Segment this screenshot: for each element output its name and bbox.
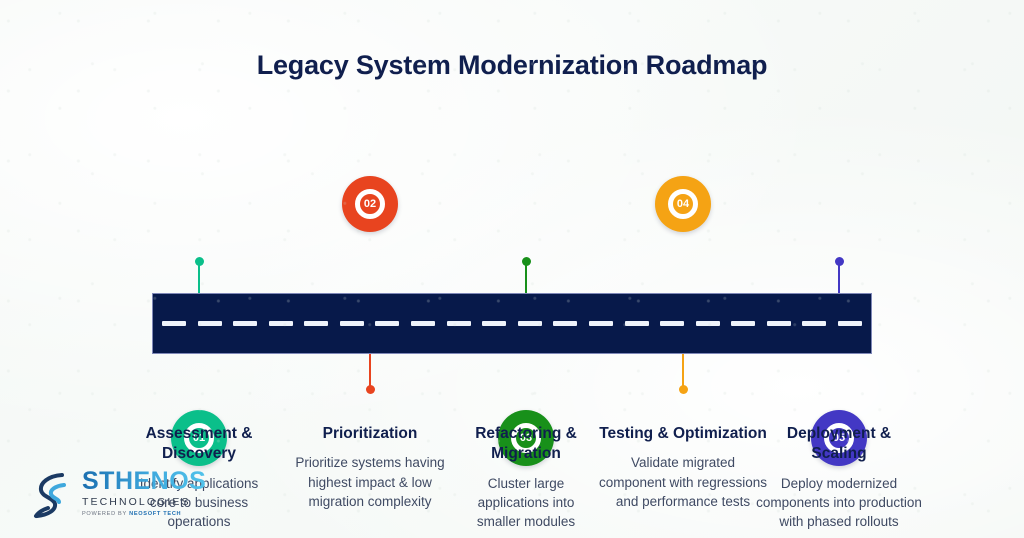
road-lane-dashes [153, 294, 871, 353]
milestone-circle-02[interactable]: 02 [342, 176, 398, 232]
road-dash [269, 321, 293, 326]
logo-tagline: POWERED BY NEOSOFT TECH [82, 512, 206, 518]
road-dash [553, 321, 577, 326]
logo-name: STHENOS [82, 469, 206, 494]
road-dash [838, 321, 862, 326]
road-dash [233, 321, 257, 326]
milestone-connector-03 [525, 261, 527, 293]
road-dash [802, 321, 826, 326]
milestone-connector-dot [679, 385, 688, 394]
milestone-connector-dot [195, 257, 204, 266]
milestone-ring: 02 [355, 189, 385, 219]
logo-subtitle: TECHNOLOGIES [82, 497, 206, 508]
infographic-canvas: Legacy System Modernization Roadmap 01As… [0, 0, 1024, 538]
milestone-number: 02 [364, 199, 376, 210]
road-dash [411, 321, 435, 326]
road-dash [589, 321, 613, 326]
road-dash [625, 321, 649, 326]
milestone-circle-04[interactable]: 04 [655, 176, 711, 232]
road-dash [731, 321, 755, 326]
road-dash [375, 321, 399, 326]
road-dash [304, 321, 328, 326]
milestone-connector-04 [682, 354, 684, 389]
milestone-text-05: Deployment &ScalingDeploy modernizedcomp… [714, 424, 964, 531]
milestone-connector-dot [835, 257, 844, 266]
milestone-ring: 04 [668, 189, 698, 219]
milestone-connector-05 [838, 261, 840, 293]
road-dash [198, 321, 222, 326]
roadmap-road-bar [152, 293, 872, 354]
road-dash [696, 321, 720, 326]
logo-tagline-brand: NEOSOFT TECH [129, 511, 181, 517]
road-dash [447, 321, 471, 326]
logo-wordmark: STHENOS TECHNOLOGIES POWERED BY NEOSOFT … [82, 469, 206, 517]
milestone-number: 04 [677, 199, 689, 210]
milestone-title: Deployment &Scaling [714, 424, 964, 465]
road-dash [660, 321, 684, 326]
milestone-connector-02 [369, 354, 371, 389]
milestone-connector-dot [522, 257, 531, 266]
road-dash [340, 321, 364, 326]
road-dash [162, 321, 186, 326]
road-dash [482, 321, 506, 326]
page-title: Legacy System Modernization Roadmap [0, 50, 1024, 81]
milestone-description: Deploy modernizedcomponents into product… [714, 474, 964, 531]
milestone-connector-dot [366, 385, 375, 394]
company-logo: STHENOS TECHNOLOGIES POWERED BY NEOSOFT … [28, 466, 188, 528]
road-dash [767, 321, 791, 326]
sthenos-logo-mark [28, 470, 76, 522]
road-dash [518, 321, 542, 326]
milestone-connector-01 [198, 261, 200, 293]
logo-tagline-prefix: POWERED BY [82, 511, 129, 517]
